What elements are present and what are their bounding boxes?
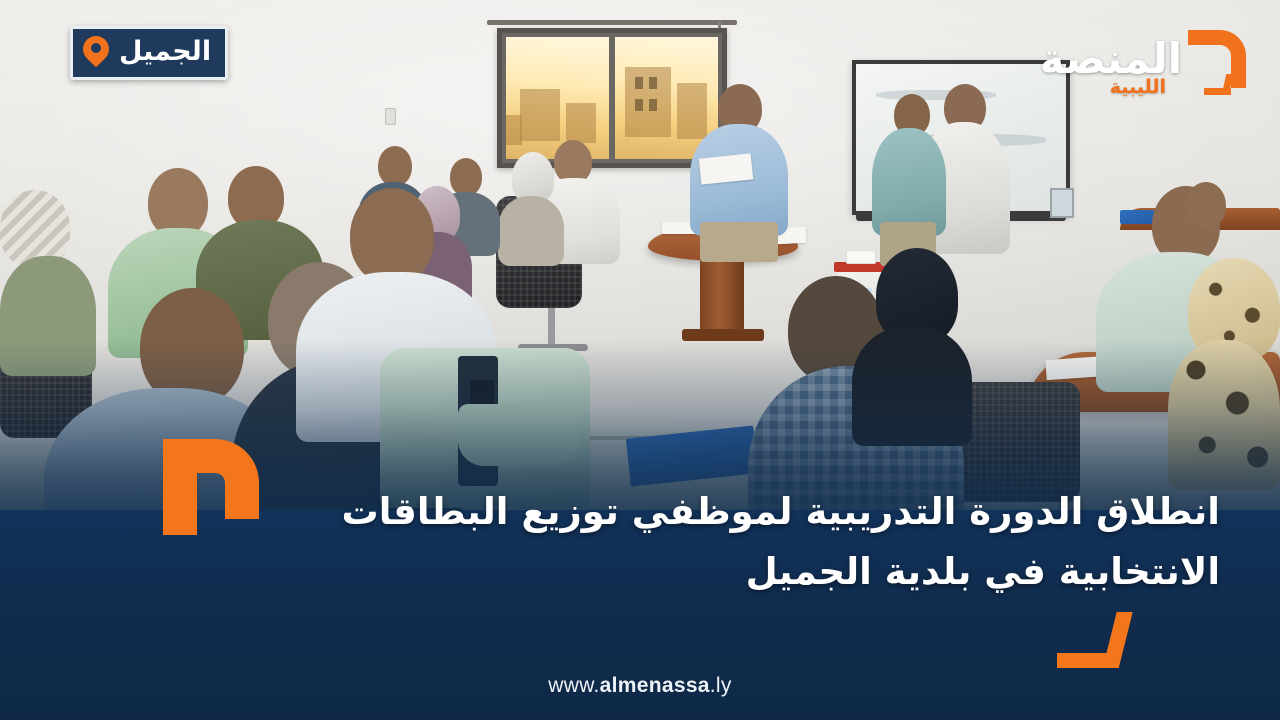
location-pin-icon	[83, 36, 109, 70]
headline-line-2: الانتخابية في بلدية الجميل	[300, 542, 1220, 602]
logo-arabic-sub: الليبية	[1110, 76, 1166, 98]
site-logo[interactable]: المنصة الليبية THE LIBYAN PLATFORM	[1043, 18, 1258, 110]
window	[497, 28, 727, 168]
brand-hook-icon	[163, 439, 275, 535]
headline: انطلاق الدورة التدريبية لموظفي توزيع الب…	[300, 482, 1220, 602]
ballot-box-top-carton	[846, 250, 876, 264]
site-url-suffix: .ly	[710, 674, 732, 697]
logo-hook-icon	[1182, 30, 1254, 96]
window-pane-left	[506, 37, 609, 159]
site-url-prefix: www.	[548, 674, 599, 697]
wall-notice	[1050, 188, 1074, 218]
site-url-main: almenassa	[600, 674, 710, 697]
curtain-rail	[487, 20, 737, 25]
headline-line-1: انطلاق الدورة التدريبية لموظفي توزيع الب…	[300, 482, 1220, 542]
wall-socket	[385, 108, 396, 125]
news-card: الجميل المنصة الليبية THE LIBYAN PLATFOR…	[0, 0, 1280, 720]
brand-tick-icon	[1057, 612, 1141, 670]
location-badge-label: الجميل	[119, 38, 211, 68]
location-badge[interactable]: الجميل	[70, 26, 228, 80]
site-url[interactable]: www.almenassa.ly	[0, 674, 1280, 698]
